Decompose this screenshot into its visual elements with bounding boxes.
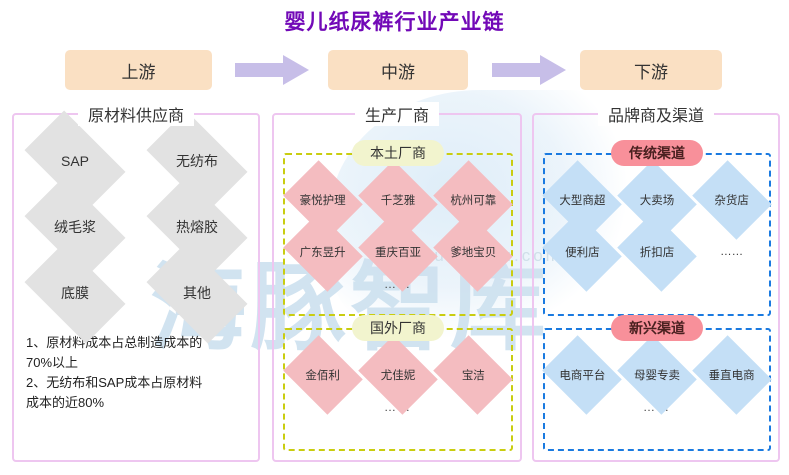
domestic-diamond-grid: 豪悦护理 千芝雅 杭州可靠 广东昱升 重庆百亚 爹地宝贝 …… [285,175,511,291]
diamond-item[interactable]: 爹地宝贝 [436,227,511,277]
note-line: 成本的近80% [26,393,254,413]
note-line: 70%以上 [26,353,254,373]
subpanel-domestic-manufacturers: 本土厂商 豪悦护理 千芝雅 杭州可靠 广东昱升 重庆百亚 爹地宝贝 …… [283,153,513,316]
stage-box-downstream[interactable]: 下游 [580,50,722,90]
panel-raw-material-suppliers: 原材料供应商 SAP 无纺布 绒毛浆 热熔胶 底膜 其他 1、原材料成本占总制造… [12,113,260,462]
panel-title-manufacturers: 生产厂商 [355,102,439,126]
diamond-item[interactable]: 折扣店 [620,227,695,277]
diamond-item[interactable]: 宝洁 [436,350,511,400]
subpanel-badge-foreign: 国外厂商 [352,315,444,341]
diamond-item[interactable]: 绒毛浆 [16,199,134,255]
page-title: 婴儿纸尿裤行业产业链 [0,6,789,36]
traditional-diamond-grid: 大型商超 大卖场 杂货店 便利店 折扣店 …… [545,175,769,279]
diamond-item[interactable]: SAP [16,133,134,189]
diamond-item[interactable]: 尤佳妮 [360,350,435,400]
subpanel-badge-traditional: 传统渠道 [611,140,703,166]
panel-title-raw-material-suppliers: 原材料供应商 [78,102,194,126]
diamond-item[interactable]: 无纺布 [138,133,256,189]
diamond-row: 金佰利 尤佳妮 宝洁 [285,350,511,400]
raw-material-diamond-grid: SAP 无纺布 绒毛浆 热熔胶 底膜 其他 [14,133,258,331]
subpanel-foreign-manufacturers: 国外厂商 金佰利 尤佳妮 宝洁 …… [283,328,513,451]
raw-material-note: 1、原材料成本占总制造成本的 70%以上 2、无纺布和SAP成本占原材料 成本的… [26,333,254,413]
diamond-item[interactable]: 广东昱升 [285,227,360,277]
arrow-right-icon [235,55,309,85]
diamond-item[interactable]: 热熔胶 [138,199,256,255]
diamond-row: 底膜 其他 [14,265,258,321]
emerging-diamond-grid: 电商平台 母婴专卖 垂直电商 …… [545,350,769,414]
diamond-row: 便利店 折扣店 …… [545,227,769,277]
panel-title-brands-and-channels: 品牌商及渠道 [598,102,714,126]
infographic-canvas: 婴儿纸尿裤行业产业链 上游 中游 下游 原材料供应商 SAP 无纺布 绒毛浆 热… [0,0,789,475]
arrow-right-icon [492,55,566,85]
panel-manufacturers: 生产厂商 本土厂商 豪悦护理 千芝雅 杭州可靠 广东昱升 重庆百亚 爹地宝贝 …… [272,113,522,462]
note-line: 1、原材料成本占总制造成本的 [26,333,254,353]
diamond-item[interactable]: 其他 [138,265,256,321]
subpanel-emerging-channels: 新兴渠道 电商平台 母婴专卖 垂直电商 …… [543,328,771,451]
foreign-diamond-grid: 金佰利 尤佳妮 宝洁 …… [285,350,511,414]
stage-box-upstream[interactable]: 上游 [65,50,212,90]
panel-brands-and-channels: 品牌商及渠道 传统渠道 大型商超 大卖场 杂货店 便利店 折扣店 …… 新兴渠道 [532,113,780,462]
diamond-row: 电商平台 母婴专卖 垂直电商 [545,350,769,400]
diamond-item[interactable]: 母婴专卖 [620,350,695,400]
diamond-row: 绒毛浆 热熔胶 [14,199,258,255]
subpanel-badge-domestic: 本土厂商 [352,140,444,166]
note-line: 2、无纺布和SAP成本占原材料 [26,373,254,393]
diamond-item[interactable]: 重庆百亚 [360,227,435,277]
subpanel-traditional-channels: 传统渠道 大型商超 大卖场 杂货店 便利店 折扣店 …… [543,153,771,316]
subpanel-badge-emerging: 新兴渠道 [611,315,703,341]
ellipsis-label: …… [694,227,769,277]
diamond-item[interactable]: 便利店 [545,227,620,277]
diamond-item[interactable]: 金佰利 [285,350,360,400]
diamond-item[interactable]: 电商平台 [545,350,620,400]
diamond-row: SAP 无纺布 [14,133,258,189]
stage-box-midstream-label: 中游 [381,58,415,83]
diamond-item[interactable]: 垂直电商 [694,350,769,400]
diamond-row: 广东昱升 重庆百亚 爹地宝贝 [285,227,511,277]
stage-box-upstream-label: 上游 [122,58,156,83]
diamond-item[interactable]: 底膜 [16,265,134,321]
stage-box-midstream[interactable]: 中游 [328,50,468,90]
stage-box-downstream-label: 下游 [634,58,668,83]
